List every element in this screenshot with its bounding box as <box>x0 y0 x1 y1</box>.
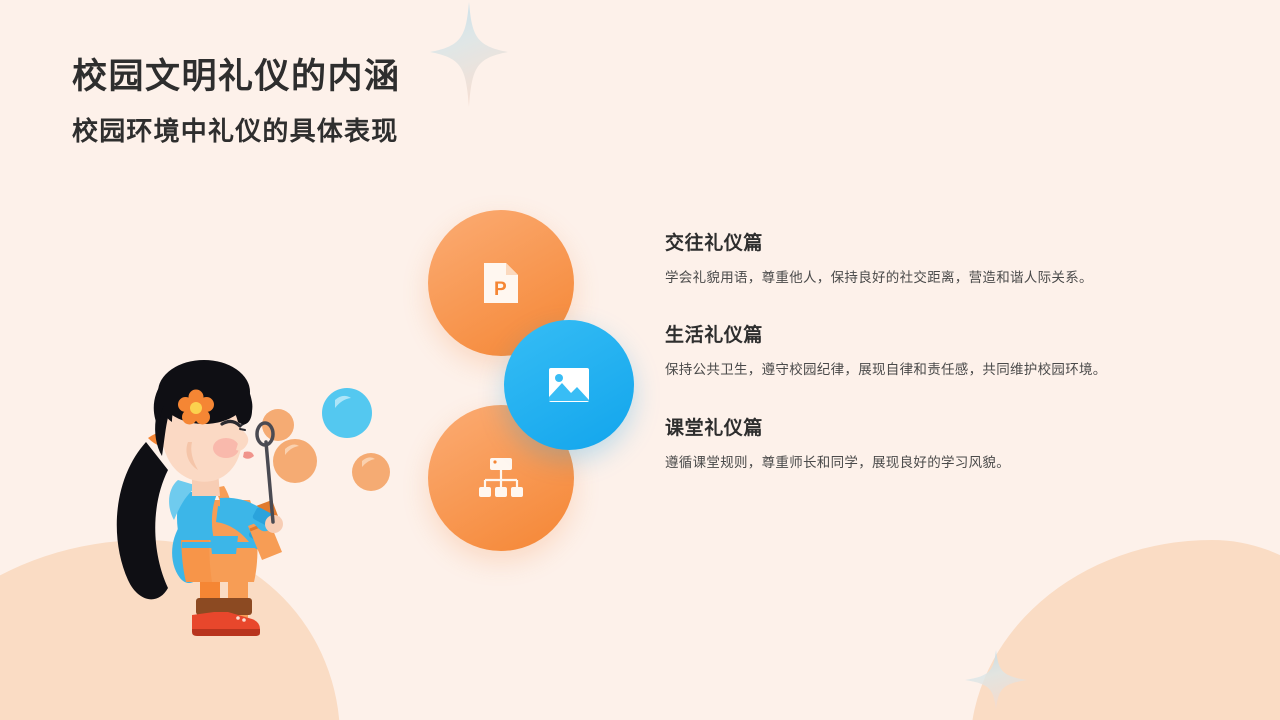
list-item: 生活礼仪篇 保持公共卫生，遵守校园纪律，展现自律和责任感，共同维护校园环境。 <box>665 320 1225 380</box>
page-title: 校园文明礼仪的内涵 <box>72 55 401 99</box>
title-block: 校园文明礼仪的内涵 校园环境中礼仪的具体表现 <box>72 55 401 147</box>
svg-text:P: P <box>494 279 507 300</box>
item-title: 生活礼仪篇 <box>665 320 1225 347</box>
badge-circle-image[interactable] <box>504 320 634 450</box>
image-picture-icon <box>548 367 590 403</box>
list-item: 课堂礼仪篇 遵循课堂规则，尊重师长和同学，展现良好的学习风貌。 <box>665 413 1225 473</box>
sparkle-icon-bottom <box>965 650 1027 710</box>
sparkle-icon-top <box>430 2 508 107</box>
page-subtitle: 校园环境中礼仪的具体表现 <box>72 115 401 148</box>
item-description: 保持公共卫生，遵守校园纪律，展现自律和责任感，共同维护校园环境。 <box>665 360 1225 380</box>
item-description: 学会礼貌用语，尊重他人，保持良好的社交距离，营造和谐人际关系。 <box>665 268 1225 288</box>
icon-circles-cluster: P <box>424 210 654 560</box>
item-title: 课堂礼仪篇 <box>665 413 1225 440</box>
ppt-file-icon: P <box>482 261 520 305</box>
list-item: 交往礼仪篇 学会礼貌用语，尊重他人，保持良好的社交距离，营造和谐人际关系。 <box>665 228 1225 288</box>
content-items-list: 交往礼仪篇 学会礼貌用语，尊重他人，保持良好的社交距离，营造和谐人际关系。 生活… <box>665 228 1225 473</box>
girl-blowing-bubbles-illustration <box>88 330 408 660</box>
item-title: 交往礼仪篇 <box>665 228 1225 255</box>
bubble-blue <box>322 388 372 438</box>
item-description: 遵循课堂规则，尊重师长和同学，展现良好的学习风貌。 <box>665 453 1225 473</box>
blob-bottom-right <box>970 540 1280 720</box>
org-chart-icon <box>478 458 524 498</box>
